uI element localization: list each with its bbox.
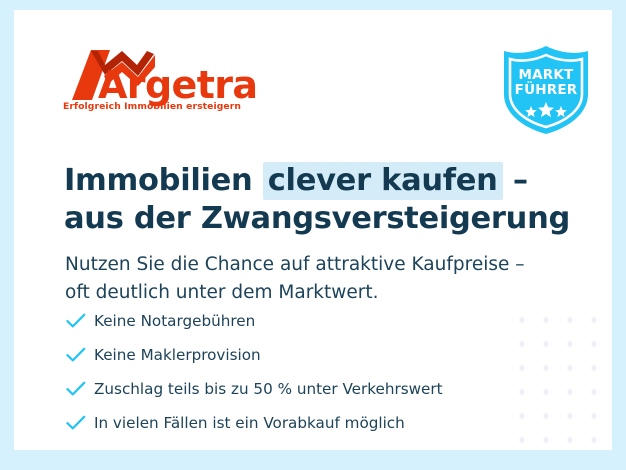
page-title: Immobilien clever kaufen – aus der Zwang… [64, 162, 584, 238]
logo-tagline: Erfolgreich Immobilien ersteigern [63, 101, 241, 112]
headline-highlight: clever kaufen [263, 162, 503, 200]
subheading-line-1: Nutzen Sie die Chance auf attraktive Kau… [65, 251, 585, 279]
list-item-label: In vielen Fällen ist ein Vorabkauf mögli… [94, 414, 405, 432]
subheading: Nutzen Sie die Chance auf attraktive Kau… [65, 251, 585, 307]
list-item-label: Zuschlag teils bis zu 50 % unter Verkehr… [94, 380, 443, 398]
list-item-label: Keine Maklerprovision [94, 346, 261, 364]
promo-card: Argetra Erfolgreich Immobilien ersteiger… [14, 10, 612, 450]
benefits-list: Keine Notargebühren Keine Maklerprovisio… [66, 306, 536, 442]
list-item-label: Keine Notargebühren [94, 312, 255, 330]
check-icon [66, 313, 94, 329]
check-icon [66, 381, 94, 397]
check-icon [66, 347, 94, 363]
headline-line1-part2: – [503, 163, 528, 198]
list-item: Keine Notargebühren [66, 306, 536, 336]
promo-banner: Argetra Erfolgreich Immobilien ersteiger… [0, 0, 626, 470]
list-item: Zuschlag teils bis zu 50 % unter Verkehr… [66, 374, 536, 404]
logo-wordmark: Argetra [98, 66, 257, 104]
headline-line1-part1: Immobilien [64, 163, 263, 198]
markt-fuehrer-badge[interactable]: MARKT FÜHRER [500, 44, 592, 136]
check-icon [66, 415, 94, 431]
list-item: In vielen Fällen ist ein Vorabkauf mögli… [66, 408, 536, 438]
list-item: Keine Maklerprovision [66, 340, 536, 370]
subheading-line-2: oft deutlich unter dem Marktwert. [65, 279, 585, 307]
headline-line2: aus der Zwangsversteigerung [64, 200, 584, 238]
argetra-logo[interactable]: Argetra Erfolgreich Immobilien ersteiger… [58, 48, 268, 118]
shield-icon [500, 44, 592, 136]
